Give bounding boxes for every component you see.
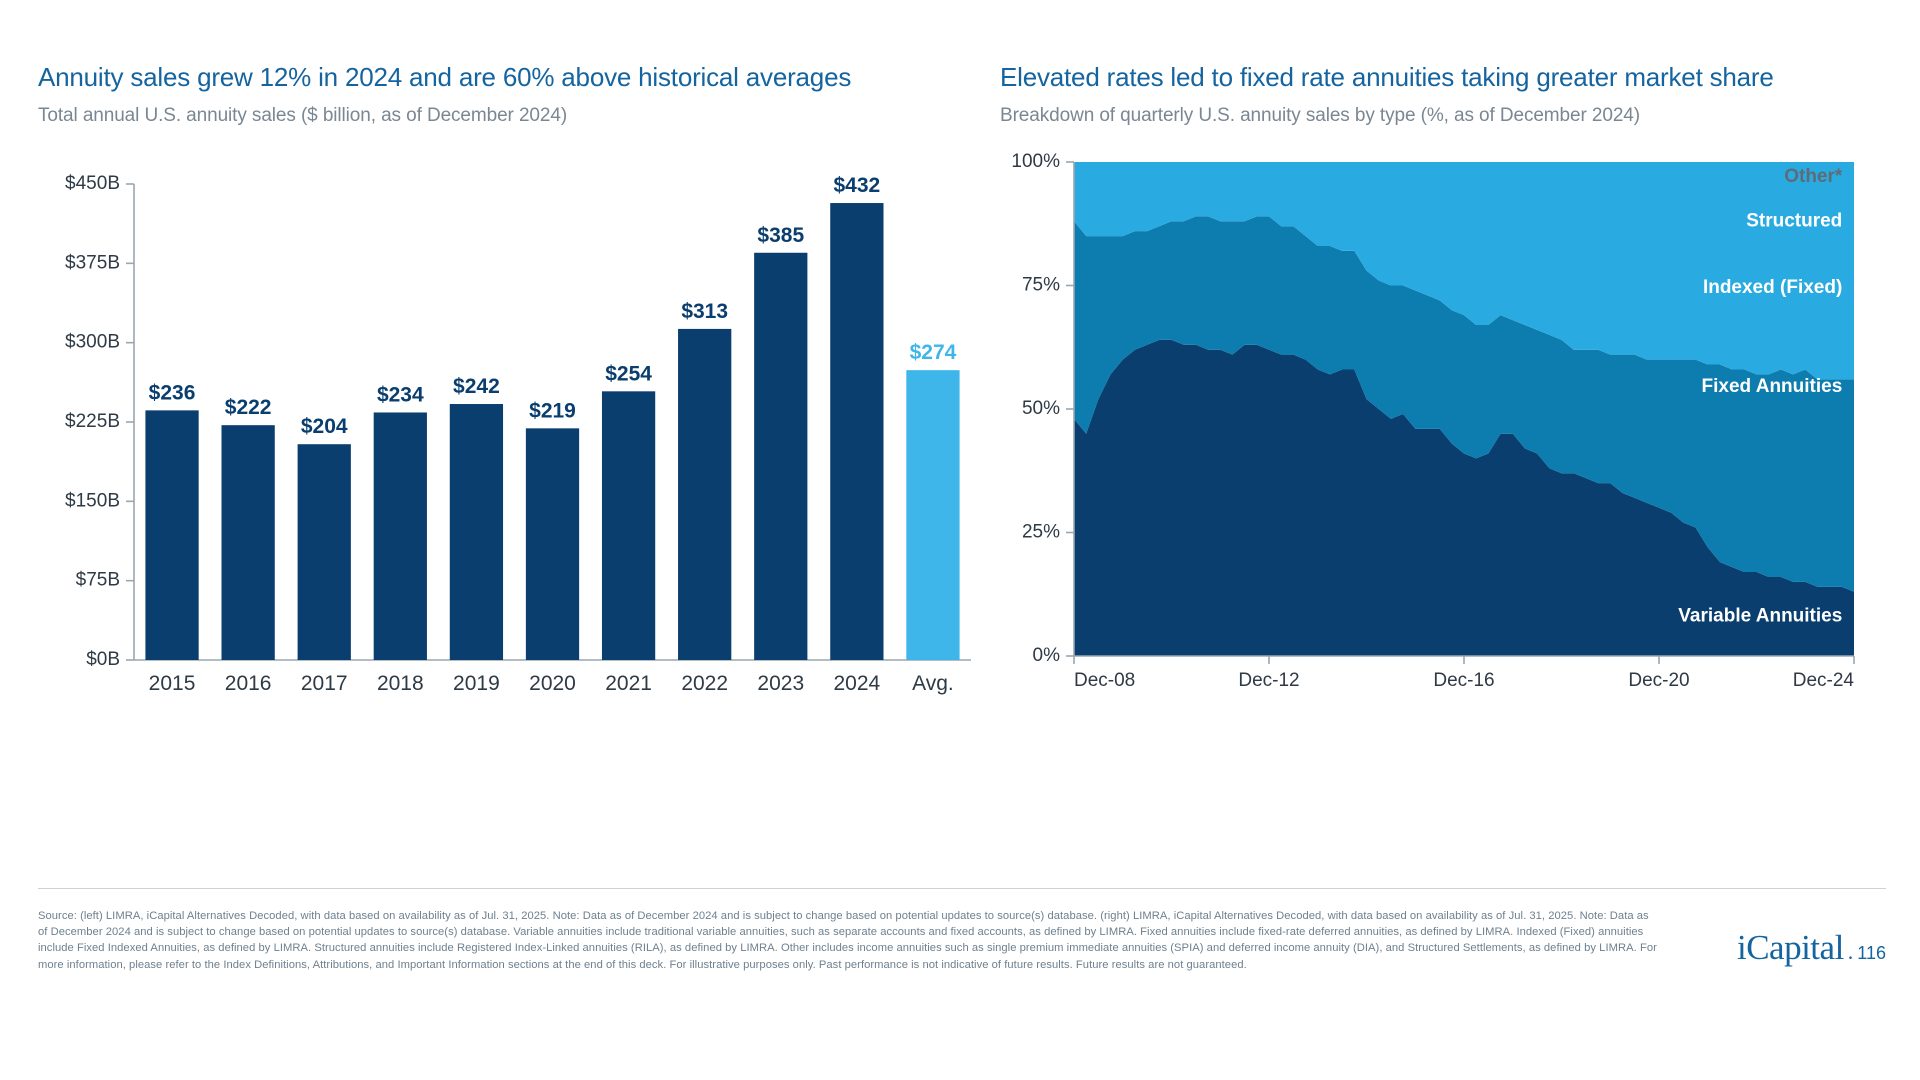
- left-panel-subtitle: Total annual U.S. annuity sales ($ billi…: [38, 105, 978, 127]
- bar-chart-svg: $0B$75B$150B$225B$300B$375B$450B$2362015…: [38, 148, 983, 718]
- x-axis-label-2022: 2022: [681, 672, 728, 695]
- annuity-mix-area-chart: 0%25%50%75%100%Dec-08Dec-12Dec-16Dec-20D…: [1000, 148, 1910, 718]
- bar-2017: [298, 444, 351, 660]
- area-band-structured: [1074, 148, 1854, 162]
- right-panel-subtitle: Breakdown of quarterly U.S. annuity sale…: [1000, 105, 1900, 127]
- y-axis-tick-label: $375B: [65, 252, 120, 273]
- bar-2018: [374, 412, 427, 660]
- series-label-fixed-annuities: Fixed Annuities: [1702, 376, 1843, 397]
- area-band-other: [1074, 148, 1854, 162]
- bar-value-label: $313: [681, 300, 728, 323]
- right-panel-title: Elevated rates led to fixed rate annuiti…: [1000, 62, 1900, 93]
- y-axis-tick-label: $225B: [65, 411, 120, 432]
- bar-value-label: $242: [453, 375, 500, 398]
- x-axis-label-2024: 2024: [834, 672, 881, 695]
- area-chart-svg: 0%25%50%75%100%Dec-08Dec-12Dec-16Dec-20D…: [1000, 148, 1910, 718]
- icapital-logo: iCapital. 116: [1737, 928, 1886, 968]
- bar-value-label: $204: [301, 415, 348, 438]
- area-y-tick-label: 0%: [1033, 645, 1061, 666]
- left-panel-title: Annuity sales grew 12% in 2024 and are 6…: [38, 62, 978, 93]
- series-label-variable-annuities: Variable Annuities: [1678, 605, 1842, 626]
- series-label-structured: Structured: [1746, 210, 1842, 231]
- bar-value-label: $385: [757, 224, 804, 247]
- area-y-tick-label: 25%: [1022, 522, 1060, 543]
- series-label-other: Other*: [1784, 166, 1843, 187]
- bar-value-label: $254: [605, 362, 652, 385]
- bar-2022: [678, 329, 731, 660]
- left-panel: Annuity sales grew 12% in 2024 and are 6…: [38, 62, 978, 127]
- bar-2020: [526, 428, 579, 660]
- bar-Avg: [906, 370, 959, 660]
- area-y-tick-label: 75%: [1022, 275, 1060, 296]
- brand-name-text: iCapital: [1737, 928, 1844, 968]
- x-axis-label-2020: 2020: [529, 672, 576, 695]
- x-axis-label-Avg: Avg.: [912, 672, 954, 695]
- y-axis-tick-label: $450B: [65, 173, 120, 194]
- area-x-tick-label-dec-12: Dec-12: [1238, 670, 1299, 691]
- y-axis-tick-label: $0B: [86, 649, 120, 670]
- x-axis-label-2019: 2019: [453, 672, 500, 695]
- area-y-tick-label: 50%: [1022, 398, 1060, 419]
- x-axis-label-2015: 2015: [149, 672, 196, 695]
- bar-value-label: $236: [149, 381, 196, 404]
- bar-2021: [602, 391, 655, 660]
- bar-2023: [754, 253, 807, 660]
- bar-2024: [830, 203, 883, 660]
- x-axis-label-2017: 2017: [301, 672, 348, 695]
- page-number: 116: [1857, 943, 1886, 964]
- bar-value-label: $274: [910, 341, 957, 364]
- area-x-tick-label-dec-24: Dec-24: [1793, 670, 1855, 691]
- bar-2015: [145, 410, 198, 660]
- brand-dot: .: [1848, 939, 1854, 965]
- x-axis-label-2021: 2021: [605, 672, 652, 695]
- right-panel: Elevated rates led to fixed rate annuiti…: [1000, 62, 1900, 127]
- bar-2019: [450, 404, 503, 660]
- series-label-indexed-fixed: Indexed (Fixed): [1703, 277, 1842, 298]
- x-axis-label-2018: 2018: [377, 672, 424, 695]
- x-axis-label-2023: 2023: [757, 672, 804, 695]
- bar-2016: [222, 425, 275, 660]
- area-y-tick-label: 100%: [1011, 151, 1060, 172]
- bar-value-label: $432: [834, 174, 881, 197]
- y-axis-tick-label: $300B: [65, 332, 120, 353]
- bar-value-label: $222: [225, 396, 272, 419]
- x-axis-label-2016: 2016: [225, 672, 272, 695]
- bar-value-label: $219: [529, 399, 576, 422]
- area-bands-group: [1074, 148, 1854, 656]
- source-footnote: Source: (left) LIMRA, iCapital Alternati…: [38, 908, 1658, 973]
- bar-value-label: $234: [377, 383, 424, 406]
- footer-divider: [38, 888, 1886, 889]
- slide-root: Annuity sales grew 12% in 2024 and are 6…: [0, 0, 1920, 1080]
- area-x-tick-label-dec-20: Dec-20: [1628, 670, 1689, 691]
- annuity-sales-bar-chart: $0B$75B$150B$225B$300B$375B$450B$2362015…: [38, 148, 983, 718]
- area-x-tick-label-dec-08: Dec-08: [1074, 670, 1135, 691]
- y-axis-tick-label: $150B: [65, 490, 120, 511]
- area-x-tick-label-dec-16: Dec-16: [1433, 670, 1494, 691]
- y-axis-tick-label: $75B: [76, 570, 120, 591]
